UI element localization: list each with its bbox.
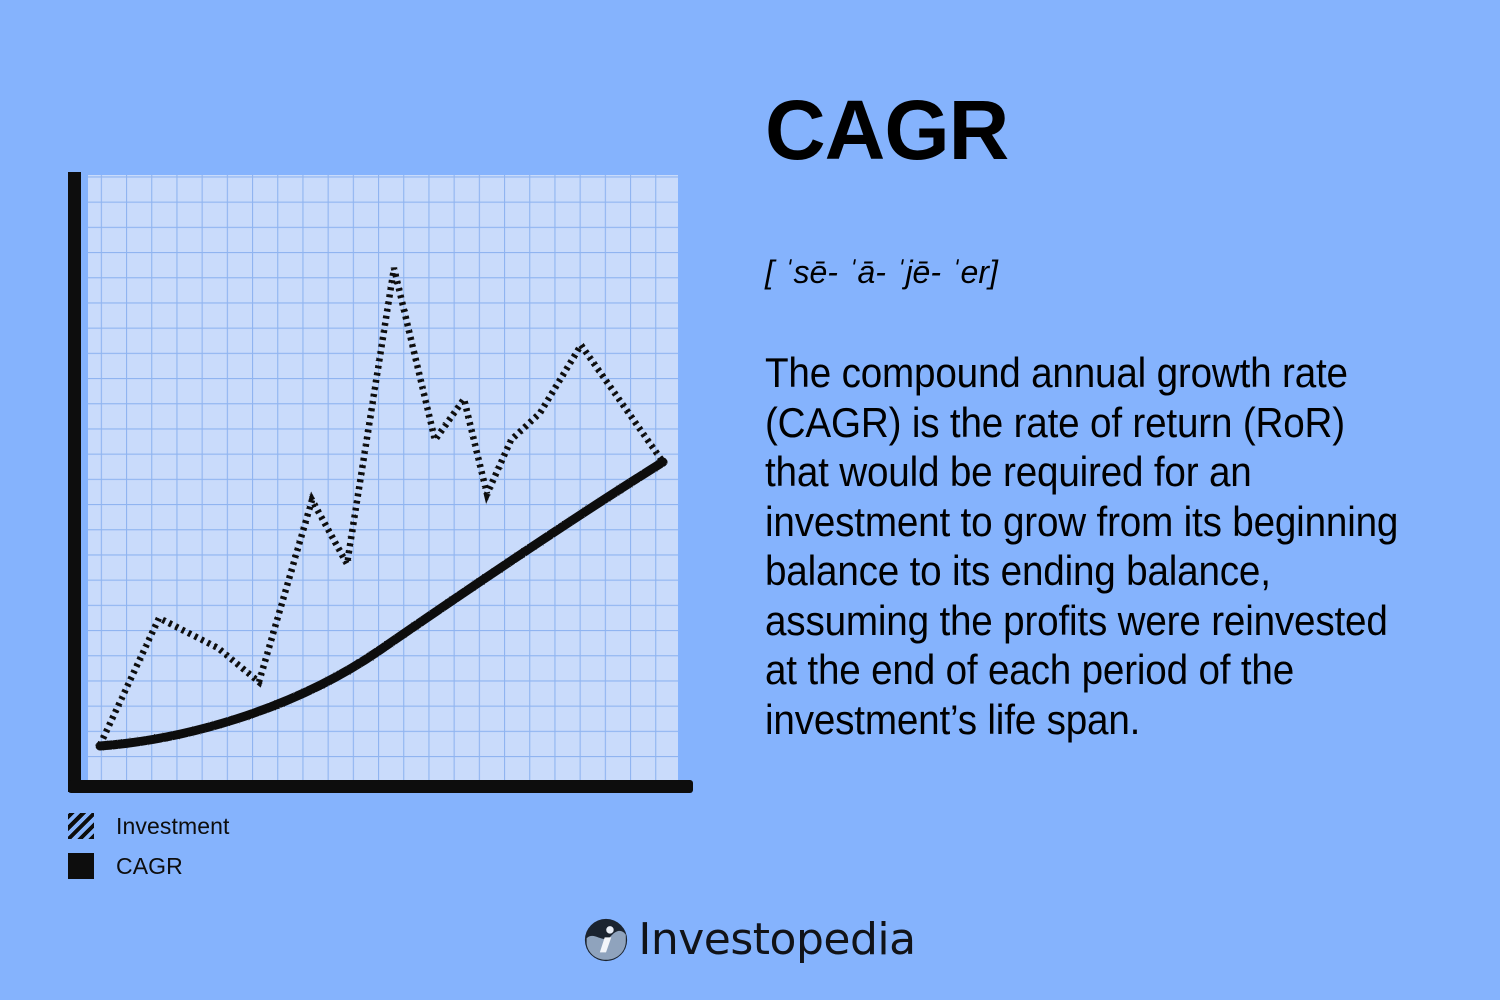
chart-legend: Investment CAGR	[68, 806, 368, 886]
investopedia-wordmark: Investopedia	[638, 918, 915, 962]
solid-square-icon	[68, 853, 94, 879]
infographic-page: Investment CAGR CAGR [ ˈsē- ˈā- ˈjē- ˈer…	[0, 0, 1500, 1000]
legend-label-cagr: CAGR	[116, 853, 183, 880]
investopedia-circle-i-icon	[584, 918, 628, 962]
term-title: CAGR	[765, 88, 1008, 172]
legend-item-cagr: CAGR	[68, 846, 368, 886]
definition-panel: CAGR [ ˈsē- ˈā- ˈjē- ˈer] The compound a…	[765, 0, 1465, 1000]
hatched-square-icon	[68, 813, 94, 839]
chart-panel: Investment CAGR	[0, 0, 730, 1000]
term-pronunciation: [ ˈsē- ˈā- ˈjē- ˈer]	[765, 254, 998, 291]
chart-grid	[88, 175, 678, 780]
legend-label-investment: Investment	[116, 813, 230, 840]
term-definition: The compound annual growth rate (CAGR) i…	[765, 348, 1400, 744]
investopedia-logo: Investopedia	[0, 918, 1500, 962]
legend-item-investment: Investment	[68, 806, 368, 846]
